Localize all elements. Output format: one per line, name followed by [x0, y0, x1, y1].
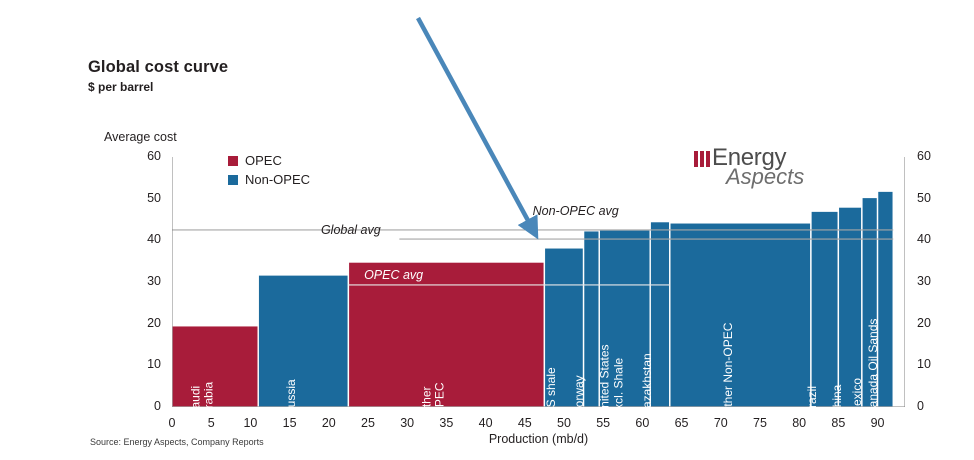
x-axis-tick-label: 45 [508, 416, 542, 430]
x-axis-tick-label: 0 [155, 416, 189, 430]
y-axis-tick-label: 0 [127, 399, 161, 413]
reference-line-label: OPEC avg [364, 268, 423, 282]
reference-line-label: Global avg [321, 223, 381, 237]
x-axis-tick-label: 35 [429, 416, 463, 430]
bar-label: Other Non-OPEC [722, 323, 735, 416]
bar-label: Canada Oil Sands [867, 319, 880, 416]
y-axis-tick-label-right: 50 [917, 191, 951, 205]
x-axis-tick-label: 10 [233, 416, 267, 430]
x-axis-tick-label: 70 [704, 416, 738, 430]
y-axis-tick-label-right: 40 [917, 232, 951, 246]
y-axis-tick-label-right: 10 [917, 357, 951, 371]
chart-bar [258, 275, 348, 407]
bar-label: Brazil [806, 386, 819, 416]
x-axis-tick-label: 90 [861, 416, 895, 430]
y-axis-tick-label: 30 [127, 274, 161, 288]
x-axis-tick-label: 50 [547, 416, 581, 430]
chart-bar [670, 223, 811, 407]
bar-label: China [831, 385, 844, 416]
chart-plot-area [172, 157, 905, 407]
y-axis-tick-label: 40 [127, 232, 161, 246]
x-axis-tick-label: 25 [351, 416, 385, 430]
y-axis-tick-label-right: 30 [917, 274, 951, 288]
x-axis-tick-label: 85 [821, 416, 855, 430]
x-axis-tick-label: 20 [312, 416, 346, 430]
x-axis-tick-label: 40 [469, 416, 503, 430]
chart-subtitle: $ per barrel [88, 80, 153, 94]
bar-label: Mexico [851, 378, 864, 416]
y-axis-tick-label: 20 [127, 316, 161, 330]
x-axis-tick-label: 60 [625, 416, 659, 430]
x-axis-tick-label: 15 [273, 416, 307, 430]
x-axis-tick-label: 80 [782, 416, 816, 430]
x-axis-tick-label: 65 [665, 416, 699, 430]
bar-label: Kazakhstan [641, 353, 654, 416]
reference-line-label: Non-OPEC avg [533, 204, 619, 218]
x-axis-tick-label: 30 [390, 416, 424, 430]
bar-label: OPEC [434, 382, 448, 416]
source-note: Source: Energy Aspects, Company Reports [90, 437, 264, 447]
y-axis-title: Average cost [104, 130, 177, 144]
bar-label: United States [599, 344, 613, 416]
page-title: Global cost curve [88, 58, 228, 77]
y-axis-tick-label-right: 20 [917, 316, 951, 330]
x-axis-tick-label: 5 [194, 416, 228, 430]
bar-label: US shale [545, 367, 558, 416]
chart-svg [172, 157, 905, 407]
y-axis-tick-label: 60 [127, 149, 161, 163]
chart-bar [811, 211, 838, 407]
y-axis-tick-label: 10 [127, 357, 161, 371]
bar-label: Russia [285, 379, 298, 416]
bar-label: excl. Shale [612, 358, 626, 417]
x-axis-tick-label: 75 [743, 416, 777, 430]
y-axis-tick-label-right: 60 [917, 149, 951, 163]
y-axis-tick-label: 50 [127, 191, 161, 205]
x-axis-tick-label: 55 [586, 416, 620, 430]
x-axis-title: Production (mb/d) [172, 432, 905, 446]
y-axis-tick-label-right: 0 [917, 399, 951, 413]
bar-label: Arabia [203, 382, 217, 417]
bar-label: Norway [573, 375, 586, 416]
